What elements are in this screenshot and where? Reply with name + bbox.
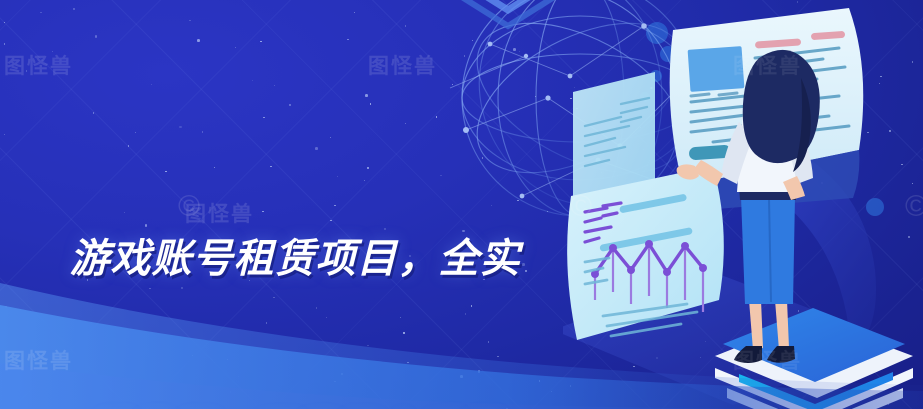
- star-dot: [854, 39, 855, 40]
- bubble-dot: [640, 92, 650, 102]
- watermark-text: 图怪兽: [733, 50, 802, 80]
- star-dot: [777, 110, 778, 111]
- star-dot: [817, 363, 818, 364]
- bubble-dot: [700, 140, 710, 150]
- star-dot: [576, 108, 577, 109]
- star-dot: [640, 127, 641, 128]
- star-dot: [840, 89, 843, 92]
- headline-line-1: 游戏账号租赁项目，全实: [0, 230, 590, 289]
- star-dot: [26, 70, 27, 71]
- chevron-arrow-icon: [438, 0, 578, 32]
- star-dot: [593, 265, 594, 266]
- star-dot: [675, 70, 676, 71]
- star-dot: [347, 39, 348, 40]
- star-dot: [189, 20, 190, 21]
- star-dot: [703, 253, 704, 254]
- star-dot: [260, 41, 261, 42]
- watermark-text: 图怪兽: [4, 50, 73, 80]
- star-dot: [705, 341, 706, 342]
- star-dot: [651, 87, 652, 88]
- star-dot: [370, 103, 371, 104]
- star-dot: [679, 239, 680, 240]
- star-dot: [289, 104, 290, 105]
- star-dot: [687, 147, 688, 148]
- star-dot: [696, 79, 697, 80]
- star-dot: [801, 155, 802, 156]
- star-dot: [866, 339, 867, 340]
- star-dot: [912, 183, 913, 184]
- star-dot: [712, 174, 713, 175]
- star-dot: [885, 364, 888, 367]
- star-dot: [535, 96, 536, 97]
- star-dot: [252, 80, 253, 81]
- star-dot: [643, 149, 644, 150]
- star-dot: [908, 236, 909, 237]
- star-dot: [513, 48, 516, 51]
- star-dot: [779, 377, 780, 378]
- star-dot: [710, 155, 711, 156]
- star-dot: [197, 39, 200, 42]
- star-dot: [4, 22, 5, 23]
- star-dot: [820, 89, 821, 90]
- star-dot: [880, 76, 881, 77]
- star-dot: [748, 250, 749, 251]
- star-dot: [883, 347, 884, 348]
- watermark-copyright-icon: ©: [905, 190, 923, 224]
- star-dot: [829, 82, 832, 85]
- star-dot: [697, 303, 698, 304]
- bubble-dot: [646, 22, 668, 44]
- star-dot: [4, 43, 5, 44]
- star-dot: [365, 94, 368, 97]
- watermark-text: 图怪兽: [368, 50, 437, 80]
- banner-canvas: 游戏账号租赁项目，全实 操教学，可直接上手操 作，项目无门槛 图怪兽图怪兽图怪兽…: [0, 0, 923, 409]
- star-dot: [821, 182, 822, 183]
- bubble-dot: [866, 198, 884, 216]
- star-dot: [889, 130, 892, 133]
- star-dot: [650, 87, 653, 90]
- star-dot: [666, 296, 669, 299]
- star-dot: [574, 87, 575, 88]
- star-dot: [700, 357, 701, 358]
- star-dot: [151, 84, 152, 85]
- star-dot: [405, 25, 406, 26]
- star-dot: [633, 366, 634, 367]
- star-dot: [867, 132, 868, 133]
- star-dot: [879, 83, 880, 84]
- star-dot: [797, 1, 798, 2]
- headline: 游戏账号租赁项目，全实 操教学，可直接上手操 作，项目无门槛: [0, 112, 590, 409]
- star-dot: [912, 61, 913, 62]
- star-dot: [52, 51, 53, 52]
- star-dot: [601, 172, 602, 173]
- bubble-dot: [610, 300, 624, 314]
- star-dot: [452, 84, 453, 85]
- star-dot: [786, 33, 787, 34]
- bubble-dot: [650, 70, 662, 82]
- star-dot: [464, 55, 465, 56]
- star-dot: [472, 40, 473, 41]
- star-dot: [737, 104, 738, 105]
- star-dot: [769, 265, 770, 266]
- star-dot: [73, 8, 74, 9]
- isometric-illustration: [563, 0, 923, 409]
- star-dot: [95, 35, 98, 38]
- star-dot: [893, 343, 894, 344]
- star-dot: [519, 51, 520, 52]
- star-dot: [738, 153, 741, 156]
- star-dot: [354, 12, 355, 13]
- star-dot: [274, 85, 275, 86]
- star-dot: [758, 157, 759, 158]
- star-dot: [737, 119, 738, 120]
- watermark-text: 图怪兽: [733, 345, 802, 375]
- star-dot: [749, 334, 750, 335]
- star-dot: [40, 12, 41, 13]
- bubble-dot: [660, 46, 676, 62]
- star-dot: [235, 47, 236, 48]
- star-dot: [656, 357, 659, 360]
- star-dot: [901, 164, 902, 165]
- star-dot: [798, 310, 799, 311]
- star-dot: [888, 404, 889, 405]
- star-dot: [723, 79, 724, 80]
- star-dot: [722, 141, 723, 142]
- star-dot: [570, 98, 571, 99]
